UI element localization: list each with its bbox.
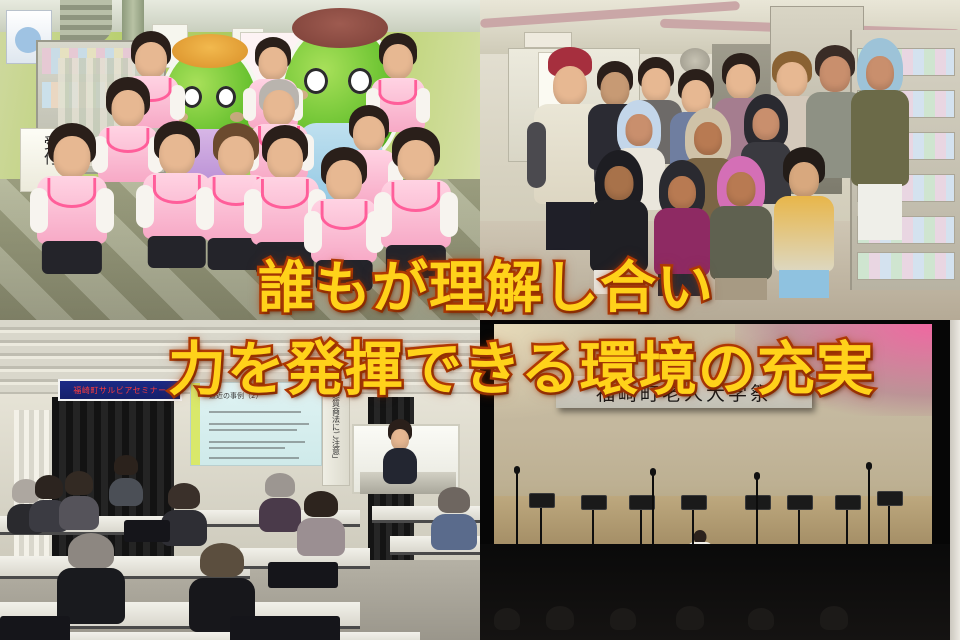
rack-shelf — [857, 252, 955, 280]
slide-accent-bar — [191, 383, 200, 465]
head — [727, 172, 756, 206]
photo-panel-bottom-right: 福崎町老人大学祭 — [480, 320, 960, 640]
slide-bullet-line — [209, 447, 285, 449]
head — [777, 62, 808, 97]
hair — [168, 483, 200, 509]
audience-head — [546, 606, 574, 630]
audience-head — [820, 606, 848, 630]
spiral-stair — [60, 0, 112, 44]
projection-screen: 最近の事例（2） — [190, 382, 322, 466]
music-stand — [888, 494, 890, 544]
side-poster: 「悪質商法にご注意」 — [322, 378, 350, 486]
head — [326, 160, 362, 201]
photo-panel-bottom-left: 福崎町サルビアセミナー 最近の事例（2） 「悪質商法にご注意」 — [0, 320, 480, 640]
lanyard — [391, 182, 440, 212]
head — [259, 47, 288, 80]
volunteer-person — [34, 128, 110, 246]
wall-sign — [524, 32, 572, 48]
participant-person — [848, 42, 912, 242]
head — [391, 429, 409, 450]
sleeve-left — [30, 188, 48, 233]
torso — [109, 478, 143, 506]
audience-head — [494, 608, 520, 630]
head — [112, 90, 145, 127]
head — [726, 64, 756, 99]
torso — [590, 200, 648, 272]
hair — [65, 471, 93, 495]
sleeve-right — [416, 88, 430, 124]
torso — [37, 176, 107, 244]
legs — [546, 202, 594, 250]
legs — [779, 270, 829, 298]
volunteer-person — [308, 152, 380, 264]
head — [398, 140, 435, 182]
legs — [386, 245, 446, 278]
presenter-person — [380, 424, 420, 484]
audience-head — [676, 606, 704, 630]
microphone-stand — [516, 472, 518, 544]
hair — [114, 455, 138, 475]
music-stand — [640, 498, 642, 544]
music-stand — [846, 498, 848, 544]
hat — [200, 543, 244, 577]
lanyard — [378, 80, 417, 105]
music-stand — [798, 498, 800, 544]
head — [267, 138, 303, 179]
torso — [311, 199, 377, 263]
slide-bullet-line — [209, 411, 301, 413]
photo-panel-top-right — [480, 0, 960, 320]
seminar-room-photo: 福崎町サルビアセミナー 最近の事例（2） 「悪質商法にご注意」 — [0, 320, 480, 640]
lanyard — [261, 179, 309, 209]
head — [54, 136, 91, 178]
torso — [774, 196, 834, 272]
torso — [383, 448, 417, 484]
head — [820, 56, 851, 92]
torso — [59, 496, 99, 530]
sleeve-left — [136, 185, 154, 229]
lanyard — [153, 175, 201, 204]
seminar-banner: 福崎町サルビアセミナー — [58, 379, 182, 401]
mascot-eye-left-1 — [182, 86, 202, 108]
torso — [381, 180, 451, 248]
sleeve-left — [527, 122, 546, 188]
head — [263, 90, 295, 126]
attendee-person — [58, 476, 100, 530]
microphone-stand — [652, 474, 654, 544]
audience-head — [748, 608, 774, 630]
head — [753, 108, 780, 140]
head — [605, 166, 634, 200]
legs — [42, 241, 102, 274]
music-stand — [540, 496, 542, 544]
music-stand — [592, 498, 594, 544]
head — [626, 114, 653, 146]
head — [553, 66, 587, 106]
torso — [710, 206, 772, 280]
slide-bullet-line — [209, 441, 305, 443]
legs — [715, 278, 767, 300]
torso — [431, 514, 477, 550]
side-poster-label: 「悪質商法にご注意」 — [331, 383, 342, 463]
head — [383, 44, 413, 79]
legs — [594, 270, 644, 294]
torso — [297, 518, 345, 556]
legs — [858, 184, 902, 240]
head — [789, 162, 819, 197]
attendee-person — [296, 496, 346, 556]
slide-bullet-line — [209, 423, 309, 425]
lanyard — [47, 178, 96, 208]
participant-person — [652, 162, 712, 296]
sleeve-left — [374, 192, 392, 237]
photo-panel-top-left: 受付 — [0, 0, 480, 320]
photo-right-edge — [950, 320, 960, 640]
legs — [148, 236, 206, 268]
mascot-eye-right-1 — [216, 86, 236, 108]
chair — [0, 616, 70, 640]
photo-collage: 受付 — [0, 0, 960, 640]
legs — [316, 260, 373, 291]
mascot-cheek-right-1 — [230, 112, 244, 122]
head — [601, 72, 630, 106]
stage-banner: 福崎町老人大学祭 — [556, 376, 812, 408]
torso — [654, 208, 710, 276]
sleeve-right — [440, 192, 458, 237]
lobby-volunteers-photo: 受付 — [0, 0, 480, 320]
hair — [68, 533, 114, 569]
international-exchange-photo — [480, 0, 960, 320]
hair — [438, 487, 470, 513]
head — [866, 56, 894, 90]
lanyard — [321, 201, 368, 230]
slide-bullet-line — [209, 457, 299, 459]
seminar-banner-label: 福崎町サルビアセミナー — [73, 385, 166, 396]
head — [694, 122, 722, 155]
hair — [265, 473, 295, 497]
slide-title: 最近の事例（2） — [209, 391, 262, 401]
torso — [259, 498, 301, 532]
stage-performance-photo: 福崎町老人大学祭 — [480, 320, 960, 640]
chair — [124, 520, 170, 542]
head — [668, 176, 696, 209]
microphone-stand — [756, 478, 758, 544]
mascot-hat-1 — [172, 34, 248, 68]
microphone-stand — [868, 468, 870, 544]
slide-bullet-line — [209, 429, 297, 431]
head — [135, 42, 167, 78]
sleeve-left — [196, 187, 213, 231]
participant-person — [772, 152, 836, 298]
sleeve-right — [96, 188, 114, 233]
stage-banner-label: 福崎町老人大学祭 — [596, 379, 772, 406]
legs — [658, 274, 706, 296]
chair — [268, 562, 338, 588]
audience-head — [610, 608, 636, 630]
hair — [304, 491, 338, 517]
audience-area — [480, 544, 960, 640]
participant-person — [708, 158, 774, 298]
participant-person — [588, 152, 650, 294]
head — [159, 134, 195, 175]
head — [642, 68, 671, 102]
volunteer-person — [378, 132, 454, 250]
attendee-person — [430, 492, 478, 550]
attendee-person — [56, 538, 126, 624]
music-stand — [692, 498, 694, 544]
sleeve-right — [170, 85, 185, 119]
sleeve-left — [244, 189, 262, 234]
torso — [851, 90, 909, 186]
chair — [230, 616, 340, 640]
attendee-person — [108, 460, 144, 506]
sleeve-left — [304, 211, 321, 253]
